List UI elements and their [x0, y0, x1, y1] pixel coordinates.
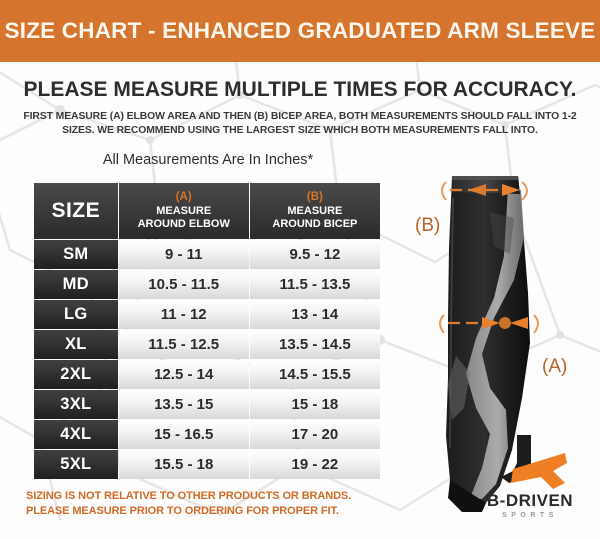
- size-chart-page: SIZE CHART - ENHANCED GRADUATED ARM SLEE…: [0, 0, 600, 539]
- cell-size: 5XL: [34, 450, 118, 479]
- column-header-size: SIZE: [34, 183, 118, 239]
- cell-bicep: 11.5 - 13.5: [250, 270, 380, 299]
- cell-elbow: 15 - 16.5: [119, 420, 249, 449]
- table-row: 3XL 13.5 - 15 15 - 18: [34, 390, 380, 419]
- cell-bicep: 13.5 - 14.5: [250, 330, 380, 359]
- footer-disclaimer: SIZING IS NOT RELATIVE TO OTHER PRODUCTS…: [26, 489, 406, 518]
- cell-elbow: 11 - 12: [119, 300, 249, 329]
- cell-size: 3XL: [34, 390, 118, 419]
- b-driven-logo-mark: [487, 433, 573, 493]
- cell-size: SM: [34, 240, 118, 269]
- label-b-bicep: (B): [415, 215, 440, 237]
- product-image-area: (B) (A) B-DRIVEN SPORTS: [390, 168, 600, 539]
- cell-elbow: 9 - 11: [119, 240, 249, 269]
- cell-size: 4XL: [34, 420, 118, 449]
- cell-elbow: 10.5 - 11.5: [119, 270, 249, 299]
- column-tag-a: (A): [119, 191, 249, 204]
- cell-elbow: 12.5 - 14: [119, 360, 249, 389]
- cell-elbow: 11.5 - 12.5: [119, 330, 249, 359]
- cell-size: LG: [34, 300, 118, 329]
- cell-bicep: 15 - 18: [250, 390, 380, 419]
- column-header-elbow-line2: AROUND ELBOW: [138, 218, 230, 230]
- table-row: 2XL 12.5 - 14 14.5 - 15.5: [34, 360, 380, 389]
- cell-bicep: 19 - 22: [250, 450, 380, 479]
- logo-subtitle: SPORTS: [465, 512, 595, 519]
- label-a-elbow: (A): [542, 356, 567, 378]
- table-row: SM 9 - 11 9.5 - 12: [34, 240, 380, 269]
- cell-bicep: 13 - 14: [250, 300, 380, 329]
- units-note: All Measurements Are In Inches*: [33, 152, 383, 168]
- header-bar: SIZE CHART - ENHANCED GRADUATED ARM SLEE…: [0, 0, 600, 62]
- table-row: 5XL 15.5 - 18 19 - 22: [34, 450, 380, 479]
- cell-bicep: 14.5 - 15.5: [250, 360, 380, 389]
- table-body: SM 9 - 11 9.5 - 12 MD 10.5 - 11.5 11.5 -…: [34, 240, 380, 479]
- cell-bicep: 9.5 - 12: [250, 240, 380, 269]
- table-row: MD 10.5 - 11.5 11.5 - 13.5: [34, 270, 380, 299]
- table-row: LG 11 - 12 13 - 14: [34, 300, 380, 329]
- column-header-elbow: (A) MEASURE AROUND ELBOW: [119, 183, 249, 239]
- cell-size: XL: [34, 330, 118, 359]
- column-header-bicep-line2: AROUND BICEP: [272, 218, 357, 230]
- column-header-bicep-line1: MEASURE: [287, 205, 342, 217]
- table-header-row: SIZE (A) MEASURE AROUND ELBOW (B) MEASUR…: [34, 183, 380, 239]
- instructions-text: FIRST MEASURE (A) ELBOW AREA AND THEN (B…: [18, 110, 582, 138]
- cell-elbow: 13.5 - 15: [119, 390, 249, 419]
- column-tag-b: (B): [250, 191, 380, 204]
- table-row: XL 11.5 - 12.5 13.5 - 14.5: [34, 330, 380, 359]
- column-header-elbow-line1: MEASURE: [156, 205, 211, 217]
- brand-logo: B-DRIVEN SPORTS: [465, 433, 595, 519]
- logo-name: B-DRIVEN: [465, 491, 595, 511]
- size-chart-table: SIZE (A) MEASURE AROUND ELBOW (B) MEASUR…: [33, 182, 381, 480]
- subtitle-heading: PLEASE MEASURE MULTIPLE TIMES FOR ACCURA…: [0, 78, 600, 102]
- cell-bicep: 17 - 20: [250, 420, 380, 449]
- cell-size: MD: [34, 270, 118, 299]
- column-header-bicep: (B) MEASURE AROUND BICEP: [250, 183, 380, 239]
- cell-size: 2XL: [34, 360, 118, 389]
- page-title: SIZE CHART - ENHANCED GRADUATED ARM SLEE…: [5, 18, 596, 44]
- cell-elbow: 15.5 - 18: [119, 450, 249, 479]
- footer-line-1: SIZING IS NOT RELATIVE TO OTHER PRODUCTS…: [26, 489, 406, 504]
- footer-line-2: PLEASE MEASURE PRIOR TO ORDERING FOR PRO…: [26, 504, 406, 519]
- table-row: 4XL 15 - 16.5 17 - 20: [34, 420, 380, 449]
